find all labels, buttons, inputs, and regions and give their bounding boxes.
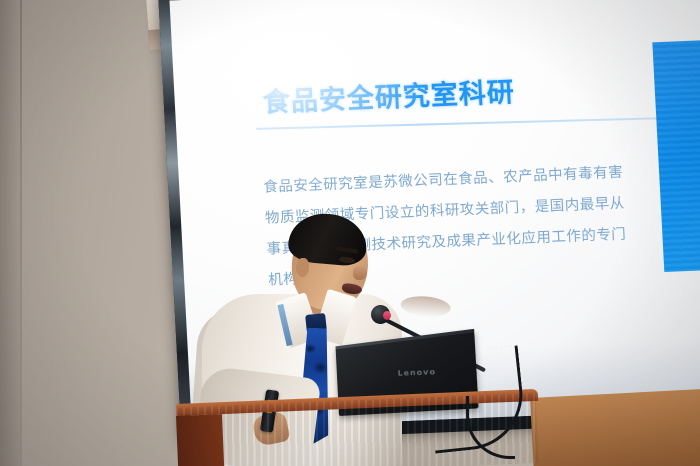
- microphone-indicator: [383, 311, 391, 320]
- table-surface-right: [530, 389, 700, 466]
- presentation-photo: 食品安全研究室科研 食品安全研究室是苏微公司在食品、农产品中有毒有害 物质监测领…: [0, 0, 700, 466]
- nose: [353, 266, 367, 280]
- wall-left-shadow: [0, 0, 22, 466]
- podium-left-side: [176, 414, 225, 466]
- wall-seam: [20, 0, 22, 466]
- ear: [296, 258, 309, 277]
- slide-title: 食品安全研究室科研: [262, 70, 516, 119]
- slide-title-divider: [256, 117, 656, 129]
